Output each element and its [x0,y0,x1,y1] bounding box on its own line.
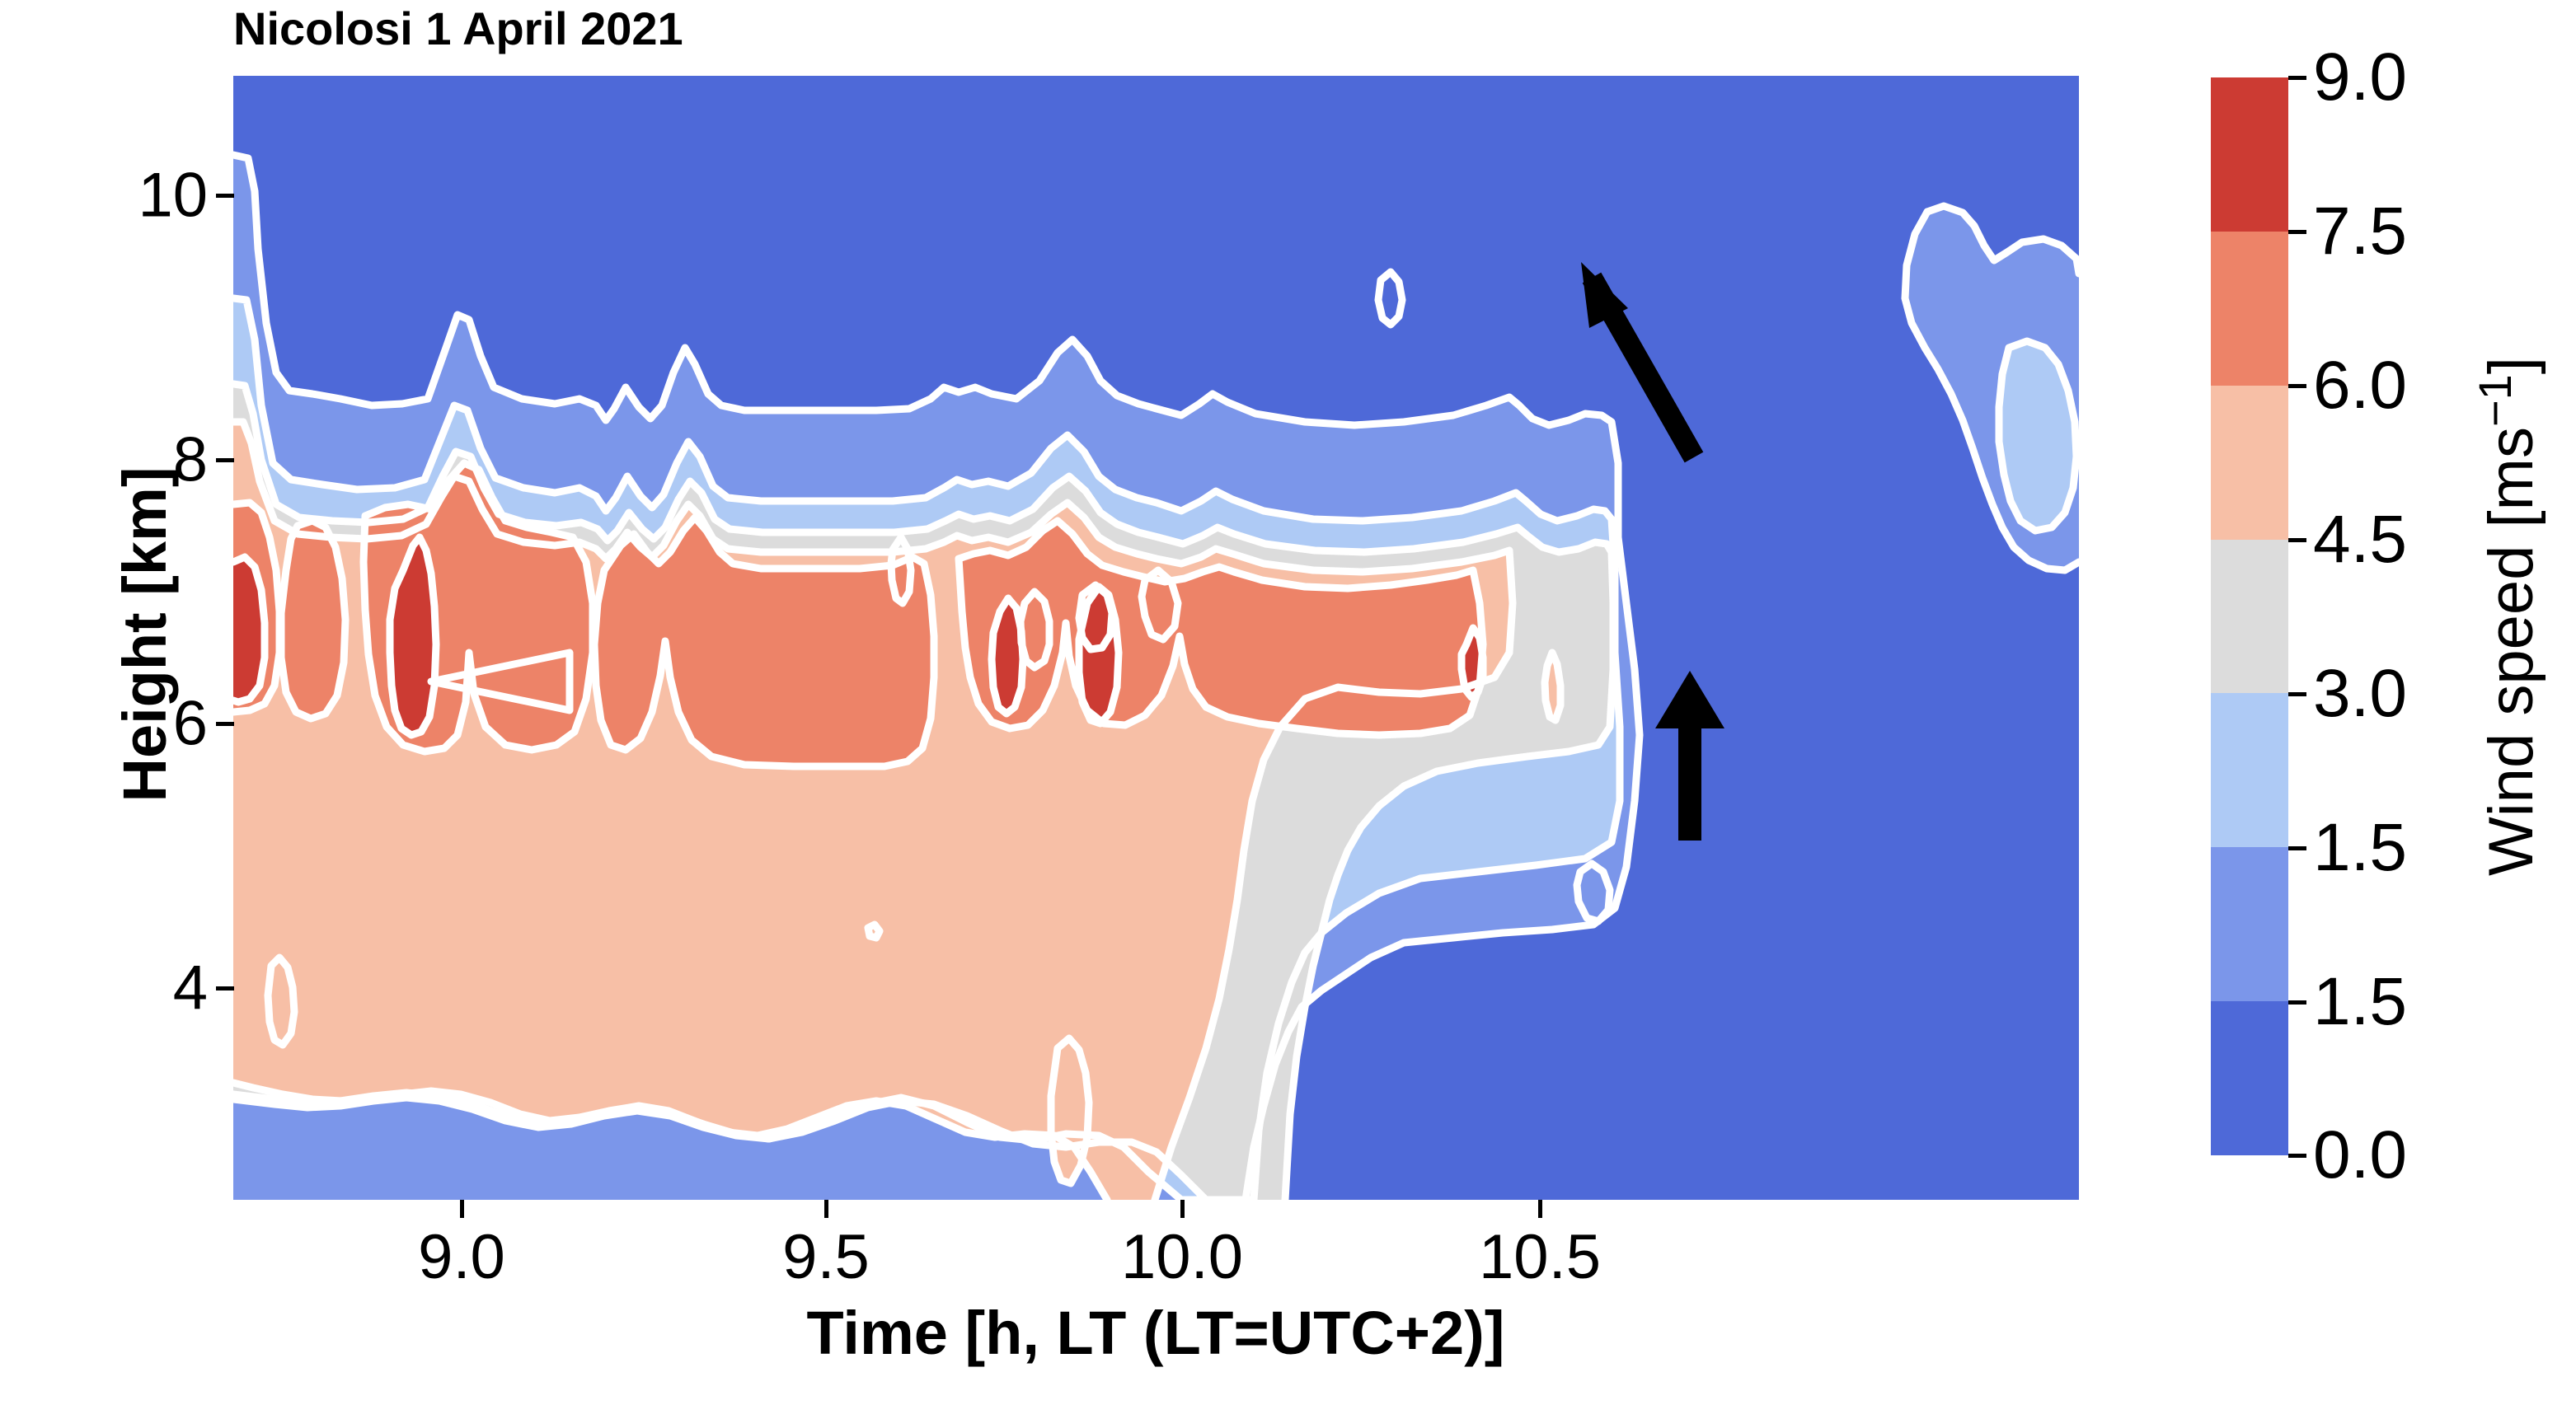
ytick-mark-4 [216,986,234,991]
colorbar-tick-6.0 [2288,538,2306,542]
colorbar-label-6.0: 4.5 [2313,501,2407,578]
xtick-label-10.0: 10.0 [1121,1221,1243,1293]
contour-field [233,76,2079,1200]
xtick-mark-10.0 [1180,1200,1185,1218]
colorbar-tick-9.0 [2288,230,2306,234]
colorbar-tick-1.5 [2288,1000,2306,1005]
colorbar-band-7.5-9.0 [2211,232,2288,386]
colorbar-tick-10.5 [2288,76,2306,80]
xtick-mark-9.0 [460,1200,464,1218]
colorbar-label-3.0: 1.5 [2313,809,2407,887]
plot-area [233,76,2079,1200]
colorbar-label-7.5: 6.0 [2313,347,2407,424]
ytick-label-4: 4 [92,953,208,1024]
colorbar-band-6.0-7.5 [2211,386,2288,540]
ytick-mark-8 [216,458,234,462]
xtick-mark-10.5 [1538,1200,1542,1218]
colorbar-tick-4.5 [2288,692,2306,696]
ytick-mark-10 [216,194,234,198]
xtick-label-9.5: 9.5 [782,1221,870,1293]
figure-canvas: Nicolosi 1 April 2021 [0,0,2576,1405]
x-axis-label: Time [h, LT (LT=UTC+2)] [807,1298,1505,1368]
colorbar-band-4.5-6.0 [2211,540,2288,694]
colorbar-tick-7.5 [2288,384,2306,388]
colorbar-tick-3.0 [2288,846,2306,850]
colorbar-band-1.5-3.0 [2211,847,2288,1001]
xtick-label-10.5: 10.5 [1479,1221,1601,1293]
xtick-mark-9.5 [824,1200,828,1218]
colorbar-band-3.0-4.5 [2211,693,2288,847]
ytick-mark-6 [216,722,234,726]
colorbar-label-0.0: 0.0 [2313,1117,2407,1194]
colorbar [2211,77,2288,1155]
colorbar-label-9.0: 7.5 [2313,193,2407,270]
xtick-label-9.0: 9.0 [418,1221,505,1293]
colorbar-tick-0.0 [2288,1154,2306,1158]
ytick-label-10: 10 [92,160,208,232]
chart-title: Nicolosi 1 April 2021 [233,2,683,55]
colorbar-band-9.0-10.5 [2211,77,2288,232]
y-axis-label: Height [km] [110,467,180,803]
colorbar-label-4.5: 3.0 [2313,655,2407,733]
colorbar-label-1.5: 1.5 [2313,963,2407,1041]
colorbar-band-0.0-1.5 [2211,1001,2288,1155]
colorbar-label-10.5: 9.0 [2313,39,2407,116]
colorbar-title: Wind speed [ms−1] [2468,357,2547,876]
